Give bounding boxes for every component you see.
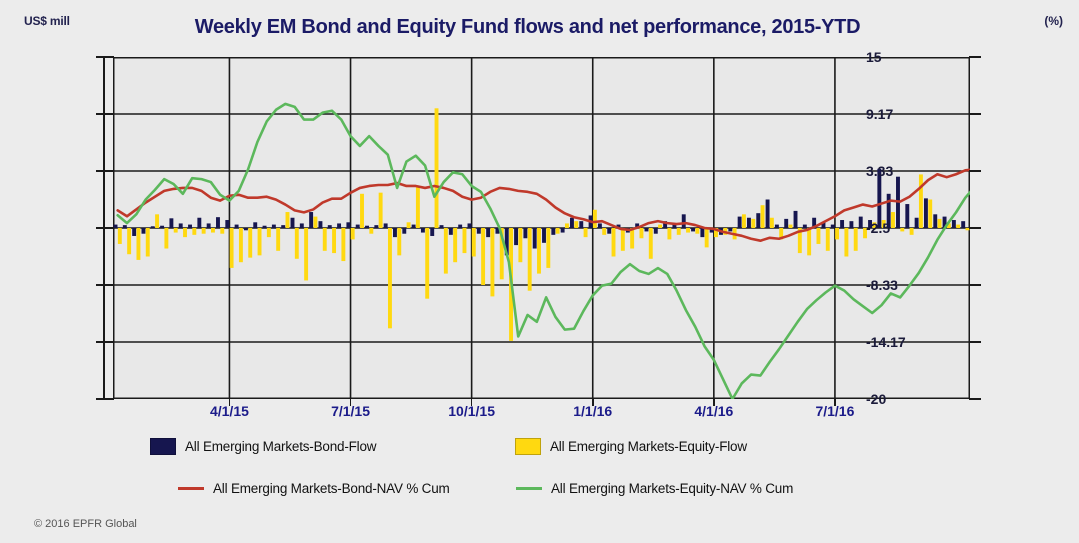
left-tick-mark: [96, 170, 114, 172]
legend-item-equity-nav[interactable]: All Emerging Markets-Equity-NAV % Cum: [516, 481, 793, 496]
x-tick-mark: [471, 399, 473, 406]
chart-legend: All Emerging Markets-Bond-Flow All Emerg…: [0, 438, 1079, 522]
left-tick-mark: [96, 113, 114, 115]
right-tick-mark: [969, 170, 981, 172]
right-tick-mark: [969, 284, 981, 286]
left-tick-mark: [96, 227, 114, 229]
left-tick-mark: [96, 341, 114, 343]
x-tick-mark: [592, 399, 594, 406]
x-tick-mark: [834, 399, 836, 406]
legend-label-bond-flow: All Emerging Markets-Bond-Flow: [185, 439, 376, 454]
x-tick-mark: [350, 399, 352, 406]
x-tick-mark: [713, 399, 715, 406]
right-axis-tick: 15: [866, 49, 882, 65]
x-tick-mark: [229, 399, 231, 406]
right-axis-tick: -14.17: [866, 334, 906, 350]
legend-label-equity-flow: All Emerging Markets-Equity-Flow: [550, 439, 747, 454]
right-tick-mark: [969, 227, 981, 229]
left-tick-mark: [96, 284, 114, 286]
left-tick-mark: [96, 56, 114, 58]
legend-label-equity-nav: All Emerging Markets-Equity-NAV % Cum: [551, 481, 793, 496]
right-tick-mark: [969, 398, 981, 400]
legend-item-equity-flow[interactable]: All Emerging Markets-Equity-Flow: [515, 438, 747, 455]
legend-swatch-bond-flow: [150, 438, 176, 455]
right-tick-mark: [969, 113, 981, 115]
legend-row-1: All Emerging Markets-Bond-Flow All Emerg…: [150, 438, 1079, 455]
legend-row-2: All Emerging Markets-Bond-NAV % Cum All …: [150, 481, 1079, 496]
right-axis-tick: -20: [866, 391, 886, 407]
legend-label-bond-nav: All Emerging Markets-Bond-NAV % Cum: [213, 481, 450, 496]
right-axis-tick: -2.5: [866, 220, 890, 236]
right-axis-tick: -8.33: [866, 277, 898, 293]
right-tick-mark: [969, 56, 981, 58]
legend-swatch-bond-nav: [178, 487, 204, 490]
right-tick-mark: [969, 341, 981, 343]
legend-swatch-equity-nav: [516, 487, 542, 490]
right-axis-tick: 3.33: [866, 163, 893, 179]
left-tick-mark: [96, 398, 114, 400]
right-axis-tick: 9.17: [866, 106, 893, 122]
legend-item-bond-nav[interactable]: All Emerging Markets-Bond-NAV % Cum: [178, 481, 516, 496]
chart-root: US$ mill (%) Weekly EM Bond and Equity F…: [0, 0, 1079, 543]
chart-canvas: [113, 57, 970, 399]
legend-swatch-equity-flow: [515, 438, 541, 455]
legend-item-bond-flow[interactable]: All Emerging Markets-Bond-Flow: [150, 438, 515, 455]
page-title: Weekly EM Bond and Equity Fund flows and…: [0, 16, 1079, 39]
copyright-notice: © 2016 EPFR Global: [34, 518, 137, 530]
plot-area: [113, 57, 970, 399]
